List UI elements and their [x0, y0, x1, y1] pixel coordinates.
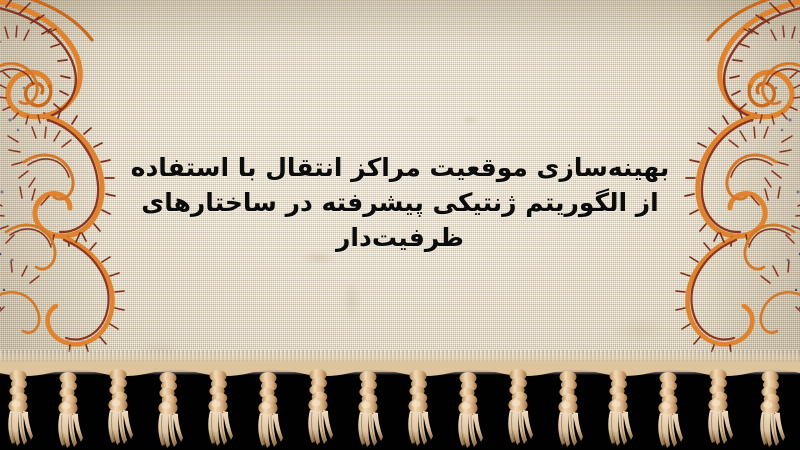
slide-canvas: بهینه‌سازی موقعیت مراکز انتقال با استفاد… — [0, 0, 800, 450]
black-backdrop — [0, 372, 800, 450]
fabric-hem-band — [0, 350, 800, 372]
title-line-2: از الگوریتم ژنتیکی پیشرفته در ساختارهای — [0, 185, 800, 220]
title-line-3: ظرفیت‌دار — [0, 220, 800, 255]
title-line-1: بهینه‌سازی موقعیت مراکز انتقال با استفاد… — [0, 150, 800, 185]
title-block: بهینه‌سازی موقعیت مراکز انتقال با استفاد… — [0, 150, 800, 255]
